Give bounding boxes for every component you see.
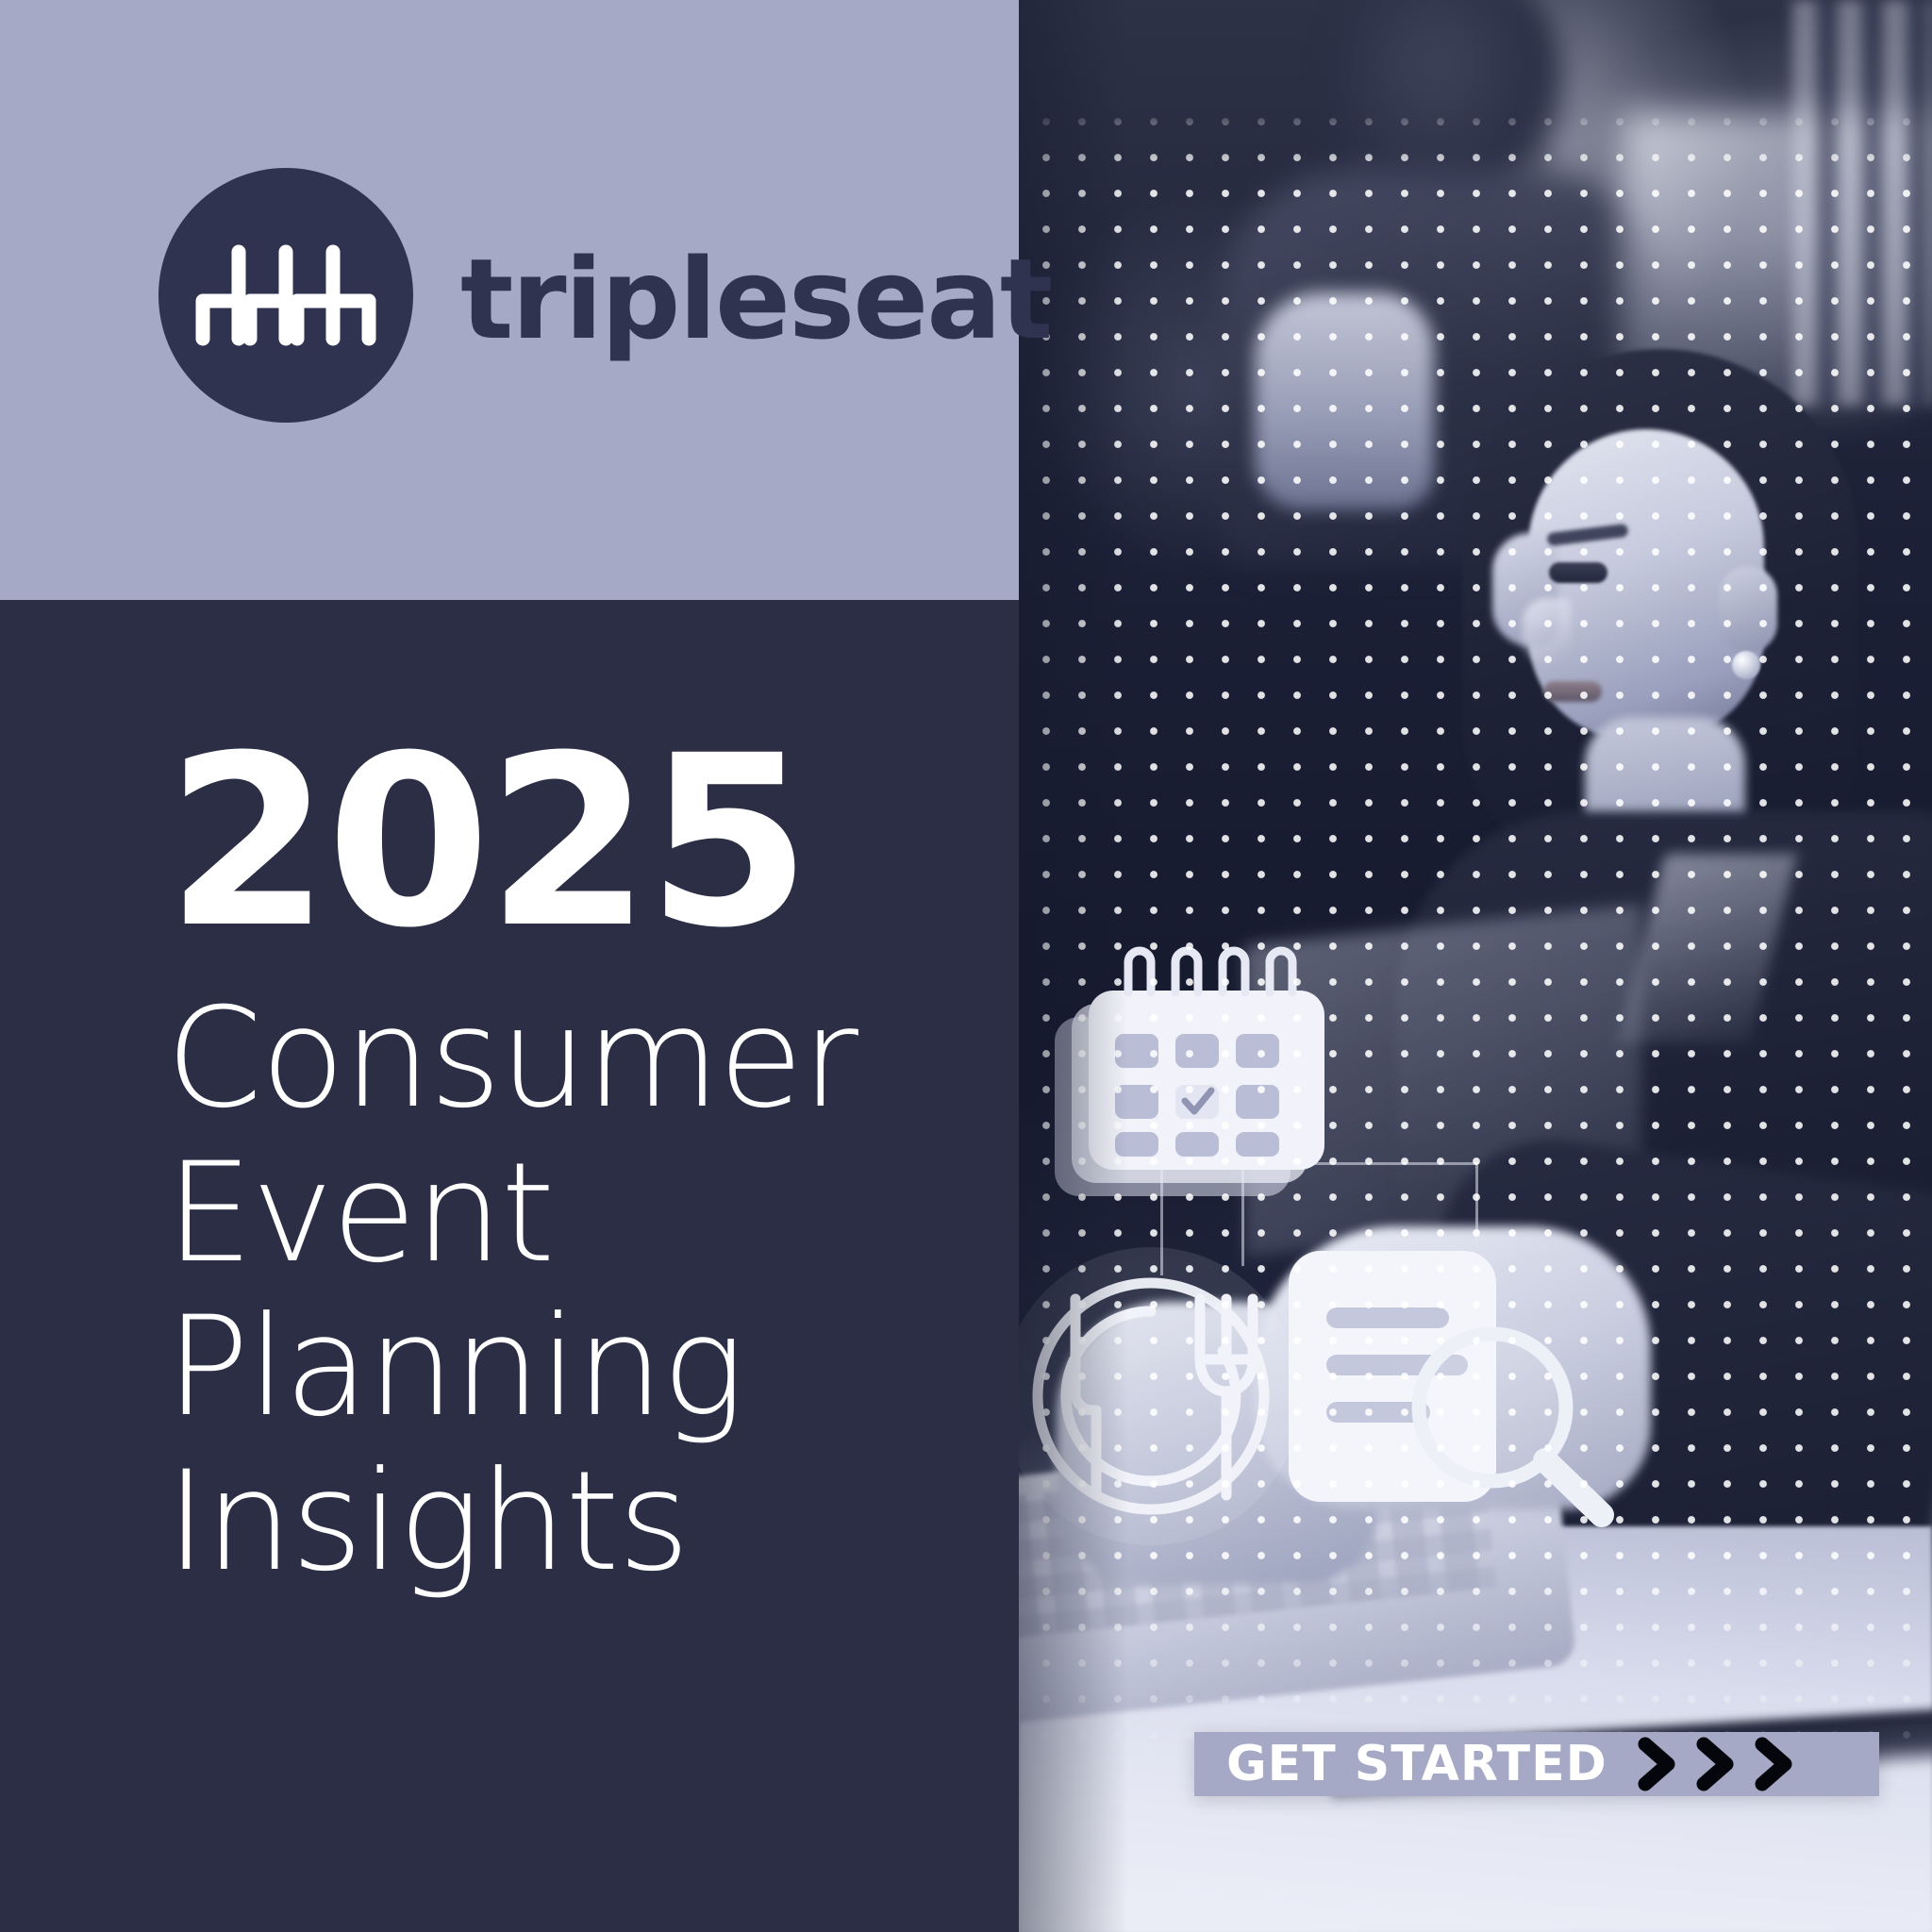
headline-group: 2025 Consumer Event Planning Insights bbox=[166, 726, 996, 1599]
brand-wordmark: tripleseat bbox=[460, 243, 1051, 355]
logo-block: tripleseat bbox=[0, 0, 1019, 600]
document-search-icon bbox=[1274, 1236, 1651, 1547]
brand-logo[interactable]: tripleseat bbox=[158, 168, 1051, 423]
foreground-person-lips bbox=[1543, 681, 1602, 702]
hero-photo-panel bbox=[1019, 0, 1932, 1932]
foreground-person-eye bbox=[1549, 562, 1607, 583]
left-content-panel: tripleseat 2025 Consumer Event Planning … bbox=[0, 0, 1019, 1932]
foreground-person-earring bbox=[1732, 651, 1760, 679]
chevron-right-icon bbox=[1749, 1735, 1800, 1793]
calendar-icon bbox=[1038, 943, 1349, 1226]
chevron-group bbox=[1632, 1735, 1800, 1793]
headline-title: Consumer Event Planning Insights bbox=[166, 982, 996, 1599]
background-person-hand bbox=[1255, 292, 1434, 509]
office-window-blinds bbox=[1792, 0, 1932, 406]
foreground-person-nose bbox=[1523, 598, 1572, 664]
chevron-right-icon bbox=[1632, 1735, 1683, 1793]
tripleseat-triple-chair-icon bbox=[158, 168, 413, 423]
foreground-person-ear bbox=[1719, 566, 1777, 653]
get-started-button[interactable]: GET STARTED bbox=[1194, 1732, 1879, 1796]
get-started-label: GET STARTED bbox=[1226, 1740, 1607, 1789]
glyph-connector-line bbox=[1475, 1162, 1478, 1247]
headline-year: 2025 bbox=[166, 726, 996, 958]
poster-canvas: tripleseat 2025 Consumer Event Planning … bbox=[0, 0, 1932, 1932]
chevron-right-icon bbox=[1690, 1735, 1741, 1793]
